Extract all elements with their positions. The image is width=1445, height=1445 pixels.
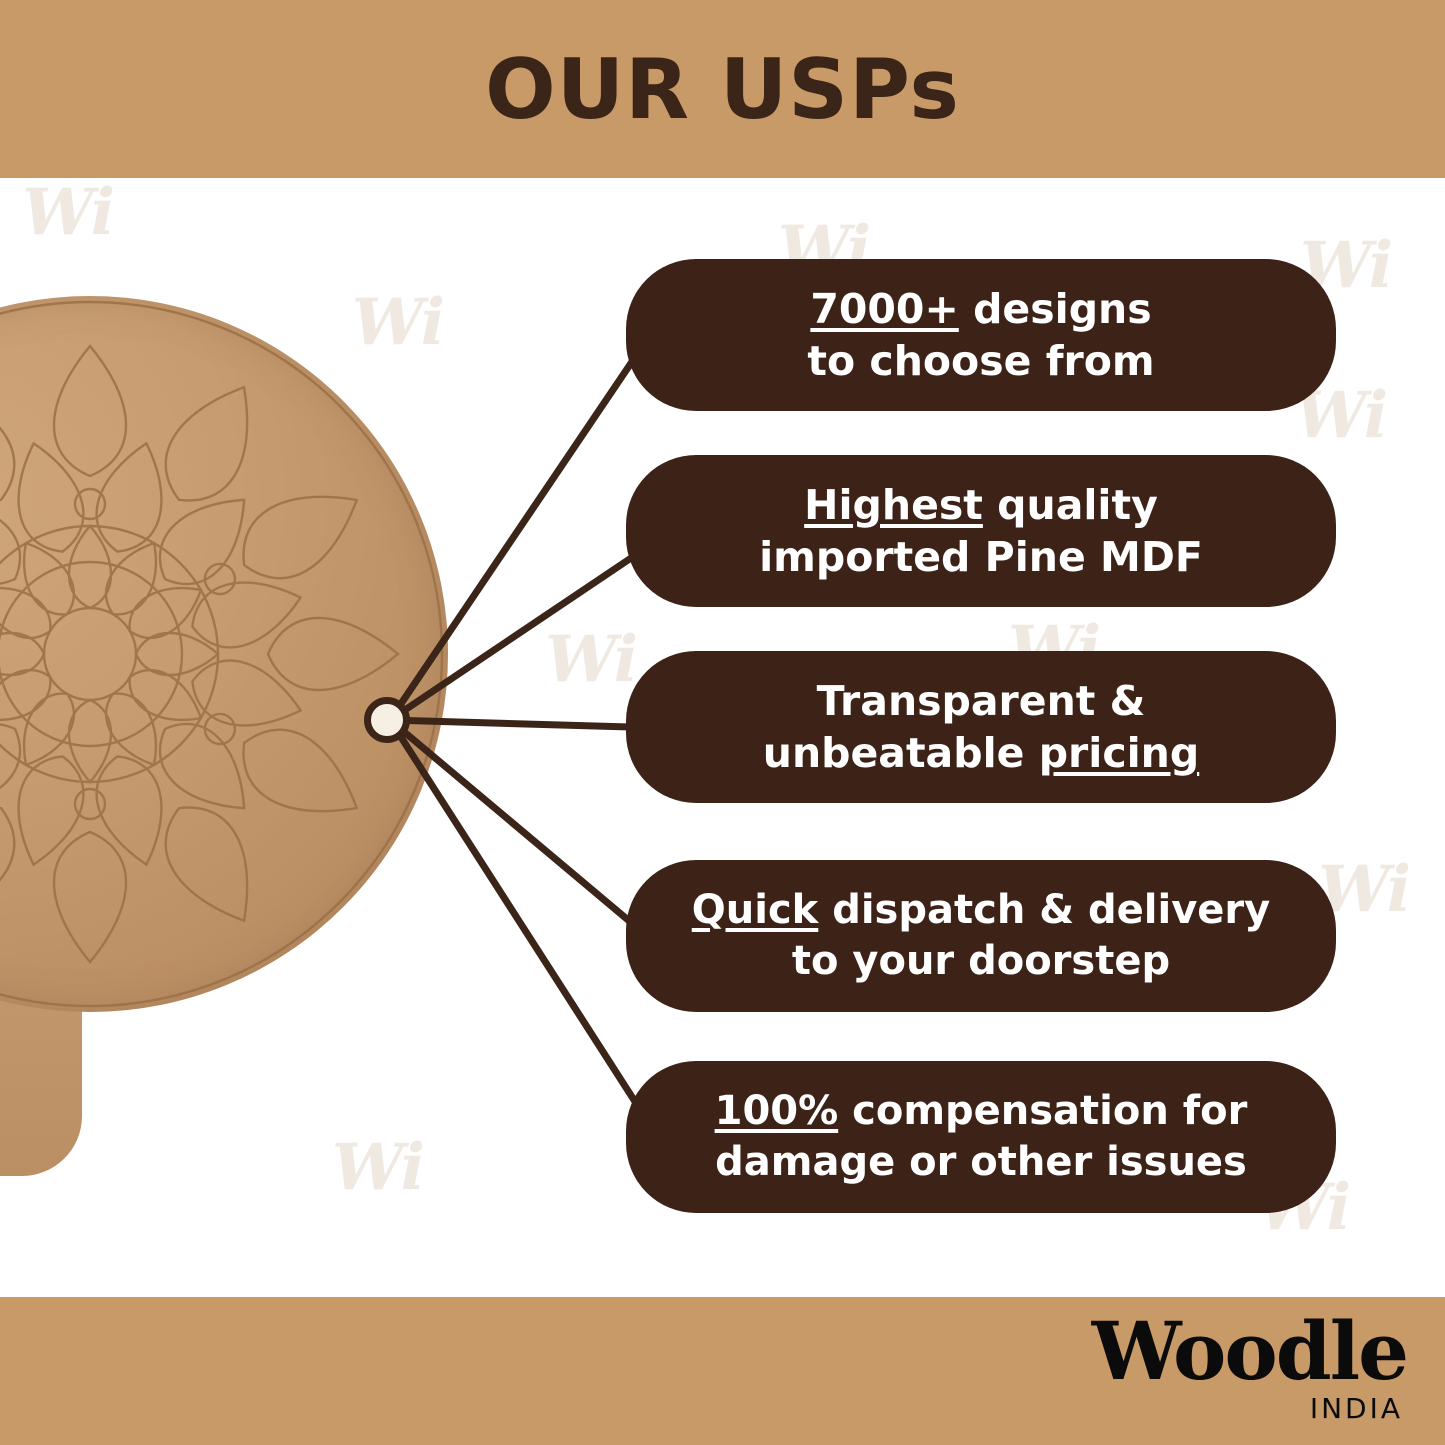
usp-card-dispatch: Quick dispatch & delivery to your doorst…	[626, 860, 1336, 1012]
usp-card-quality: Highest quality imported Pine MDF	[626, 455, 1336, 607]
usp-card-designs: 7000+ designs to choose from	[626, 259, 1336, 411]
usp-line-1-rest: compensation for	[838, 1088, 1247, 1134]
brand-name: Woodle	[1092, 1311, 1407, 1391]
usp-card-pricing: Transparent & unbeatable pricing	[626, 651, 1336, 803]
usp-line-1: 7000+ designs	[810, 283, 1151, 335]
usp-line-1: Highest quality	[804, 479, 1158, 531]
usp-highlight: Highest	[804, 481, 983, 529]
usp-line-2: damage or other issues	[715, 1137, 1247, 1188]
usp-highlight: Quick	[692, 887, 819, 933]
usp-line-1-rest: dispatch & delivery	[818, 887, 1270, 933]
infographic-canvas: Wi Wi Wi Wi Wi Wi Wi Wi Wi Wi	[0, 0, 1445, 1445]
hub-node	[364, 697, 410, 743]
usp-line-1: Quick dispatch & delivery	[692, 885, 1270, 936]
brand-subtitle: INDIA	[1092, 1395, 1403, 1423]
usp-line-2-prefix: unbeatable	[763, 729, 1039, 777]
usp-line-2: imported Pine MDF	[759, 531, 1203, 583]
usp-highlight: 7000+	[810, 285, 958, 333]
usp-card-compensation: 100% compensation for damage or other is…	[626, 1061, 1336, 1213]
page-title: OUR USPs	[0, 0, 1445, 178]
usp-line-2: to choose from	[807, 335, 1154, 387]
usp-line-2: unbeatable pricing	[763, 727, 1199, 779]
usp-line-1: 100% compensation for	[715, 1086, 1248, 1137]
usp-line-1: Transparent &	[817, 675, 1146, 727]
usp-highlight: pricing	[1039, 729, 1200, 777]
usp-line-1-rest: quality	[983, 481, 1158, 529]
usp-line-1-rest: designs	[959, 285, 1152, 333]
usp-highlight: 100%	[715, 1088, 839, 1134]
usp-line-2: to your doorstep	[792, 936, 1170, 987]
brand-logo: Woodle INDIA	[1092, 1311, 1407, 1423]
